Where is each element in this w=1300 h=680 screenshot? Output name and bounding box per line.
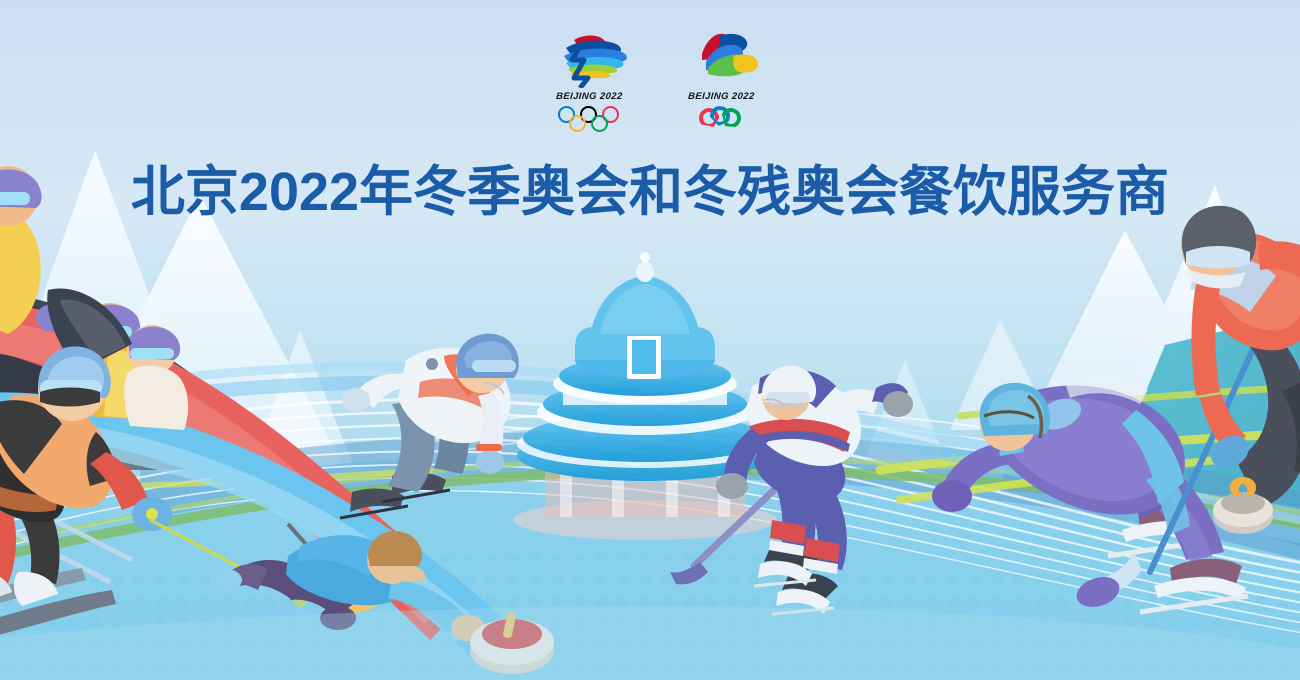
olympic-banner: BEIJING 2022 BEIJING 2022 — [0, 0, 1300, 680]
paralympic-wordmark: BEIJING 2022 — [687, 91, 754, 102]
olympic-wordmark: BEIJING 2022 — [555, 91, 622, 102]
agitos-icon — [699, 106, 743, 128]
page-title: 北京2022年冬季奥会和冬残奥会餐饮服务商 — [0, 147, 1300, 226]
logo-group: BEIJING 2022 BEIJING 2022 — [540, 30, 770, 142]
olympic-emblem-icon — [544, 30, 634, 88]
beijing-2022-paralympic-logo[interactable]: BEIJING 2022 — [673, 30, 769, 128]
olympic-rings-icon — [558, 106, 620, 128]
paralympic-emblem-icon — [676, 30, 766, 88]
beijing-2022-olympic-logo[interactable]: BEIJING 2022 — [541, 30, 637, 128]
